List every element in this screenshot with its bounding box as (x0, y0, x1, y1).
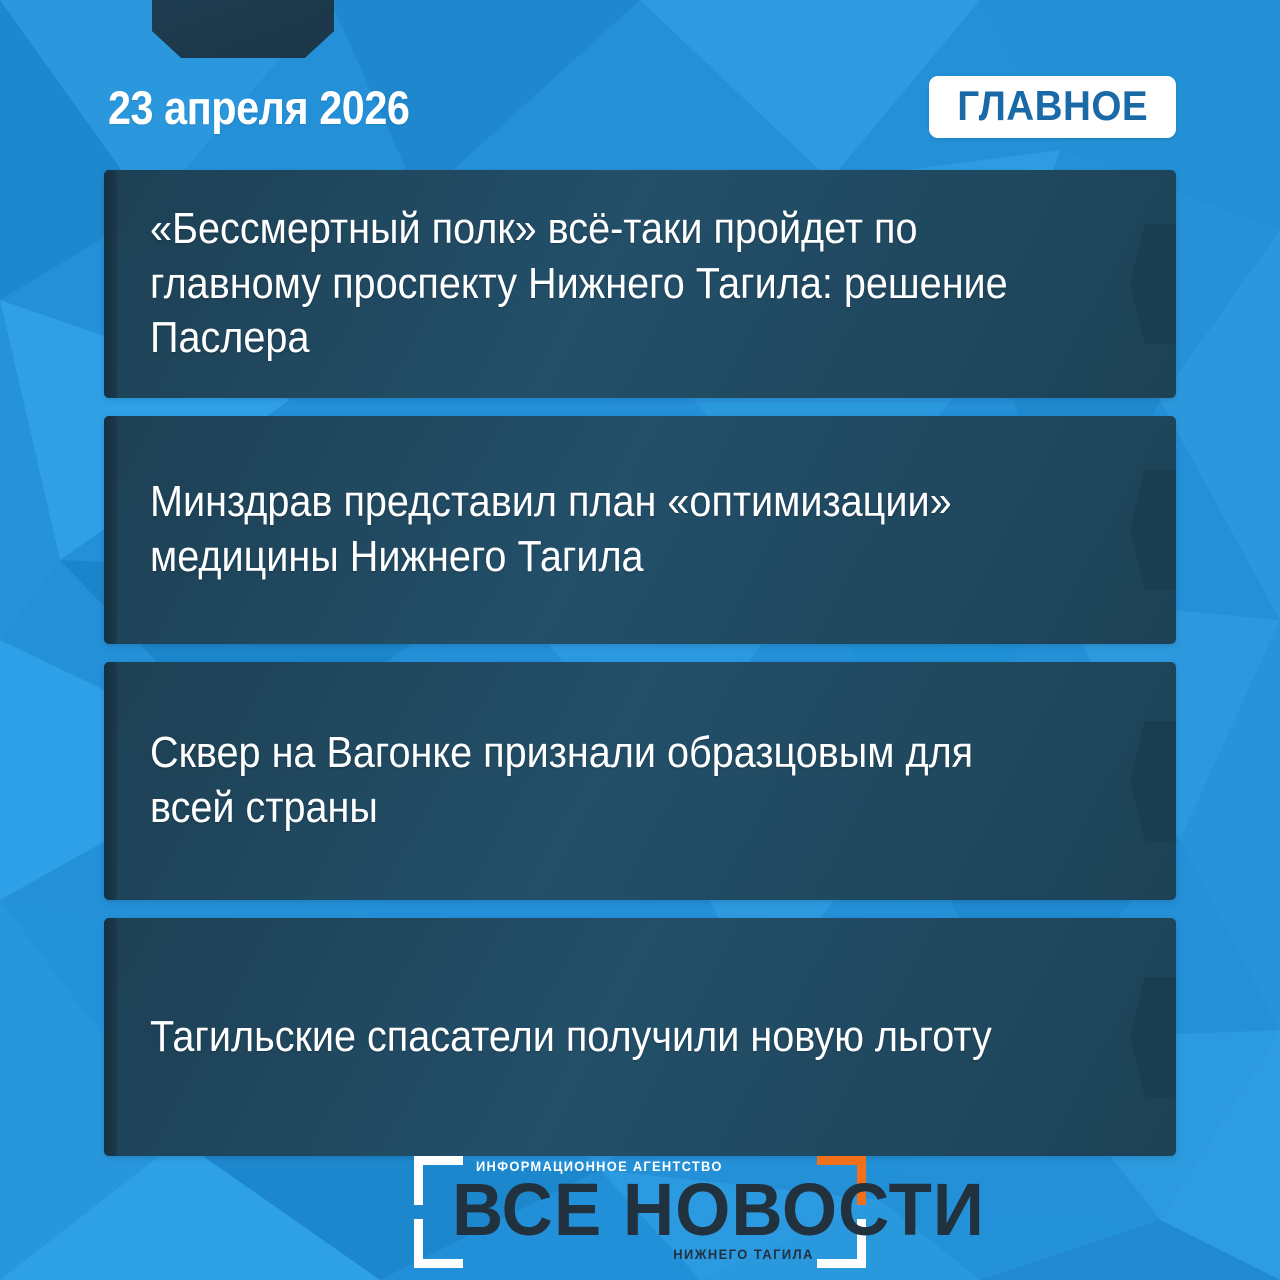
chevron-notch-icon (1130, 470, 1176, 590)
poster-header: 23 апреля 2026 ГЛАВНОЕ (0, 74, 1280, 140)
main-badge: ГЛАВНОЕ (929, 76, 1176, 138)
agency-logo: ИНФОРМАЦИОННОЕ АГЕНТСТВО ВСЕ НОВОСТИ НИЖ… (414, 1156, 866, 1268)
news-card[interactable]: Минздрав представил план «оптимизации» м… (104, 416, 1176, 644)
logo-subtitle-text: НИЖНЕГО ТАГИЛА (673, 1246, 814, 1262)
news-headline: Тагильские спасатели получили новую льго… (150, 1010, 1018, 1065)
news-card[interactable]: Тагильские спасатели получили новую льго… (104, 918, 1176, 1156)
main-badge-label: ГЛАВНОЕ (957, 85, 1148, 127)
news-poster: 23 апреля 2026 ГЛАВНОЕ «Бессмертный полк… (0, 0, 1280, 1280)
news-headline: «Бессмертный полк» всё-таки пройдет по г… (150, 202, 1018, 366)
date-label: 23 апреля 2026 (108, 84, 409, 131)
chevron-notch-icon (1130, 977, 1176, 1097)
logo-name-text: ВСЕ НОВОСТИ (452, 1173, 985, 1247)
news-list: «Бессмертный полк» всё-таки пройдет по г… (104, 170, 1176, 1156)
news-card[interactable]: «Бессмертный полк» всё-таки пройдет по г… (104, 170, 1176, 398)
news-headline: Минздрав представил план «оптимизации» м… (150, 475, 1018, 584)
chevron-notch-icon (1130, 721, 1176, 841)
news-headline: Сквер на Вагонке признали образцовым для… (150, 726, 1018, 835)
footer-logo-area: ИНФОРМАЦИОННОЕ АГЕНТСТВО ВСЕ НОВОСТИ НИЖ… (0, 1152, 1280, 1272)
chevron-notch-icon (1130, 224, 1176, 344)
top-decorative-tab (152, 0, 334, 58)
news-card[interactable]: Сквер на Вагонке признали образцовым для… (104, 662, 1176, 900)
